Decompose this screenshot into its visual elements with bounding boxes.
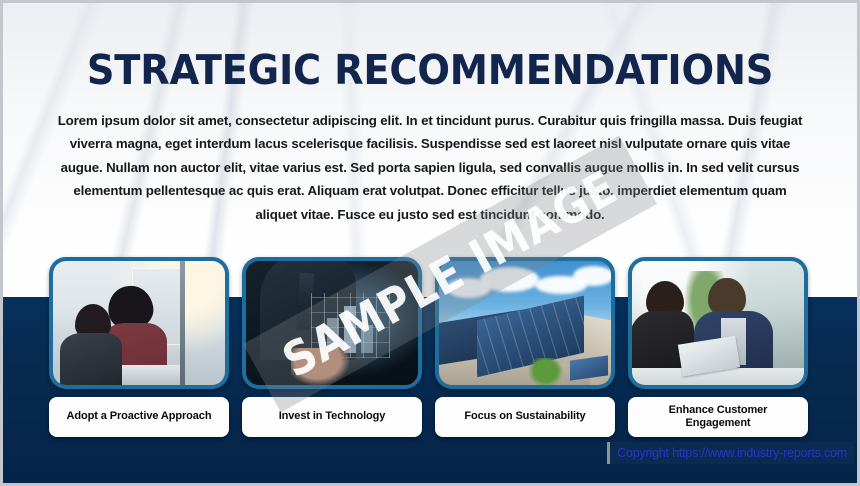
image-card-2[interactable]: [242, 257, 422, 389]
recommendation-label-row: Adopt a Proactive Approach Invest in Tec…: [49, 397, 817, 437]
recommendation-pill-1[interactable]: Adopt a Proactive Approach: [49, 397, 229, 437]
rooftop-solar-panels-photo: [439, 261, 611, 385]
image-card-3[interactable]: [435, 257, 615, 389]
recommendation-pill-4[interactable]: Enhance Customer Engagement: [628, 397, 808, 437]
image-card-1[interactable]: [49, 257, 229, 389]
clients-with-tablet-photo: [632, 261, 804, 385]
page-title: STRATEGIC RECOMMENDATIONS: [0, 47, 860, 93]
recommendation-pill-3[interactable]: Focus on Sustainability: [435, 397, 615, 437]
body-paragraph: Lorem ipsum dolor sit amet, consectetur …: [57, 109, 803, 226]
recommendation-pill-2[interactable]: Invest in Technology: [242, 397, 422, 437]
digital-interface-hand-photo: [246, 261, 418, 385]
presentation-slide: STRATEGIC RECOMMENDATIONS Lorem ipsum do…: [0, 0, 860, 486]
image-card-row: [49, 257, 817, 389]
copyright-bar[interactable]: Copyright https://www.industry-reports.c…: [607, 442, 854, 464]
image-card-4[interactable]: [628, 257, 808, 389]
two-women-collaborating-photo: [53, 261, 225, 385]
